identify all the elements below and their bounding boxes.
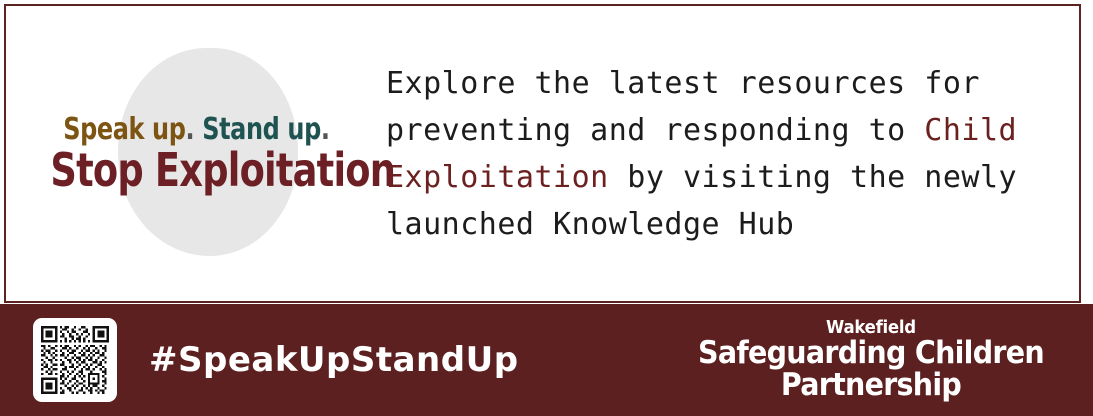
campaign-logo-line-2: Stop Exploitation xyxy=(20,145,306,195)
campaign-logo: Speak up. Stand up. Stop Exploitation xyxy=(6,6,378,301)
message-block: Explore the latest resources for prevent… xyxy=(378,6,1079,301)
qr-code-icon[interactable] xyxy=(41,326,109,394)
logo-speak-up-text: Speak up xyxy=(63,112,185,147)
message-paragraph: Explore the latest resources for prevent… xyxy=(386,60,1069,248)
logo-stop-exploitation-text: Stop Exploitation xyxy=(50,143,395,197)
hashtag-label: #SpeakUpStandUp xyxy=(149,340,519,380)
partnership-logo-line-2: Safeguarding Children xyxy=(698,338,1044,369)
banner-content-panel: Speak up. Stand up. Stop Exploitation Ex… xyxy=(4,4,1081,303)
message-text-part-1: Explore the latest resources for prevent… xyxy=(386,66,980,148)
campaign-logo-lines: Speak up. Stand up. Stop Exploitation xyxy=(6,113,378,195)
logo-speak-up-dot: . xyxy=(186,112,195,147)
logo-stand-up-dot: . xyxy=(321,112,330,147)
campaign-banner: Speak up. Stand up. Stop Exploitation Ex… xyxy=(0,0,1093,416)
qr-code-container[interactable] xyxy=(33,318,117,402)
partnership-logo-line-3: Partnership xyxy=(698,370,1044,401)
logo-stand-up-text: Stand up xyxy=(202,112,321,147)
wakefield-safeguarding-children-partnership-logo: Wakefield Safeguarding Children Partners… xyxy=(683,319,1059,401)
campaign-logo-line-1: Speak up. Stand up. xyxy=(20,113,306,147)
footer-bar: #SpeakUpStandUp Wakefield Safeguarding C… xyxy=(0,304,1093,416)
